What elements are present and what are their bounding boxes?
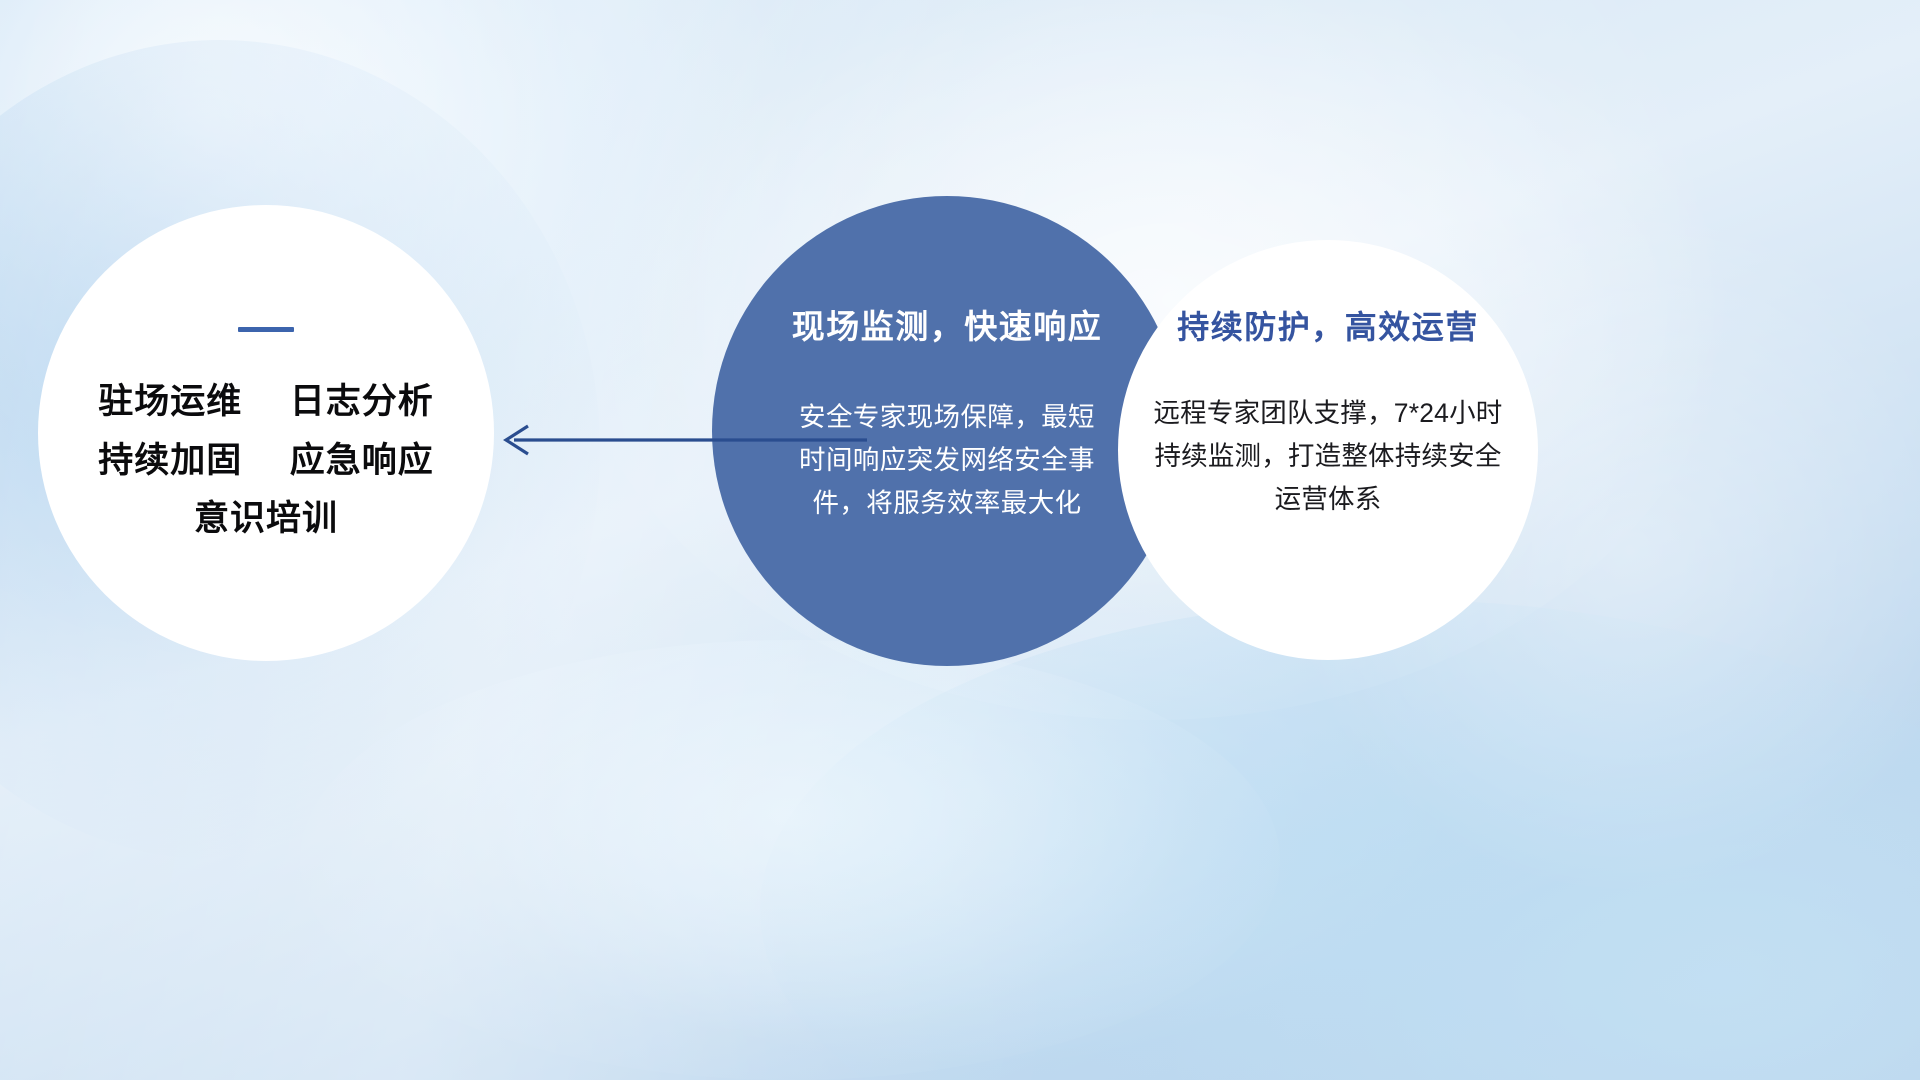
center-circle-title: 现场监测，快速响应 — [792, 300, 1103, 348]
left-circle-line-2: 持续加固 应急响应 — [98, 441, 434, 481]
flow-arrow — [492, 418, 872, 462]
left-circle-text-block: 驻场运维 日志分析 持续加固 应急响应 意识培训 — [98, 382, 434, 540]
right-circle-body: 远程专家团队支撑，7*24小时持续监测，打造整体持续安全运营体系 — [1152, 392, 1504, 521]
left-circle-line-3: 意识培训 — [194, 499, 338, 539]
left-circle-tag-5: 意识培训 — [194, 499, 338, 538]
left-circle-tag-1: 驻场运维 — [98, 382, 242, 421]
right-circle-title: 持续防护，高效运营 — [1177, 302, 1479, 348]
left-circle-tag-4: 应急响应 — [290, 441, 434, 480]
left-circle: 驻场运维 日志分析 持续加固 应急响应 意识培训 — [38, 205, 494, 661]
left-circle-line-1: 驻场运维 日志分析 — [98, 382, 434, 422]
left-circle-tag-3: 持续加固 — [98, 441, 242, 480]
slide-canvas: 驻场运维 日志分析 持续加固 应急响应 意识培训 现场监测，快速响应 安全专家现… — [0, 0, 1920, 1080]
right-circle: 持续防护，高效运营 远程专家团队支撑，7*24小时持续监测，打造整体持续安全运营… — [1118, 240, 1538, 660]
left-circle-tag-2: 日志分析 — [290, 382, 434, 421]
background-blob-bottom-right — [760, 600, 1920, 1080]
accent-dash — [238, 327, 294, 332]
background-blob-bottom-center — [300, 640, 1280, 1080]
flow-arrow-svg — [492, 418, 872, 462]
